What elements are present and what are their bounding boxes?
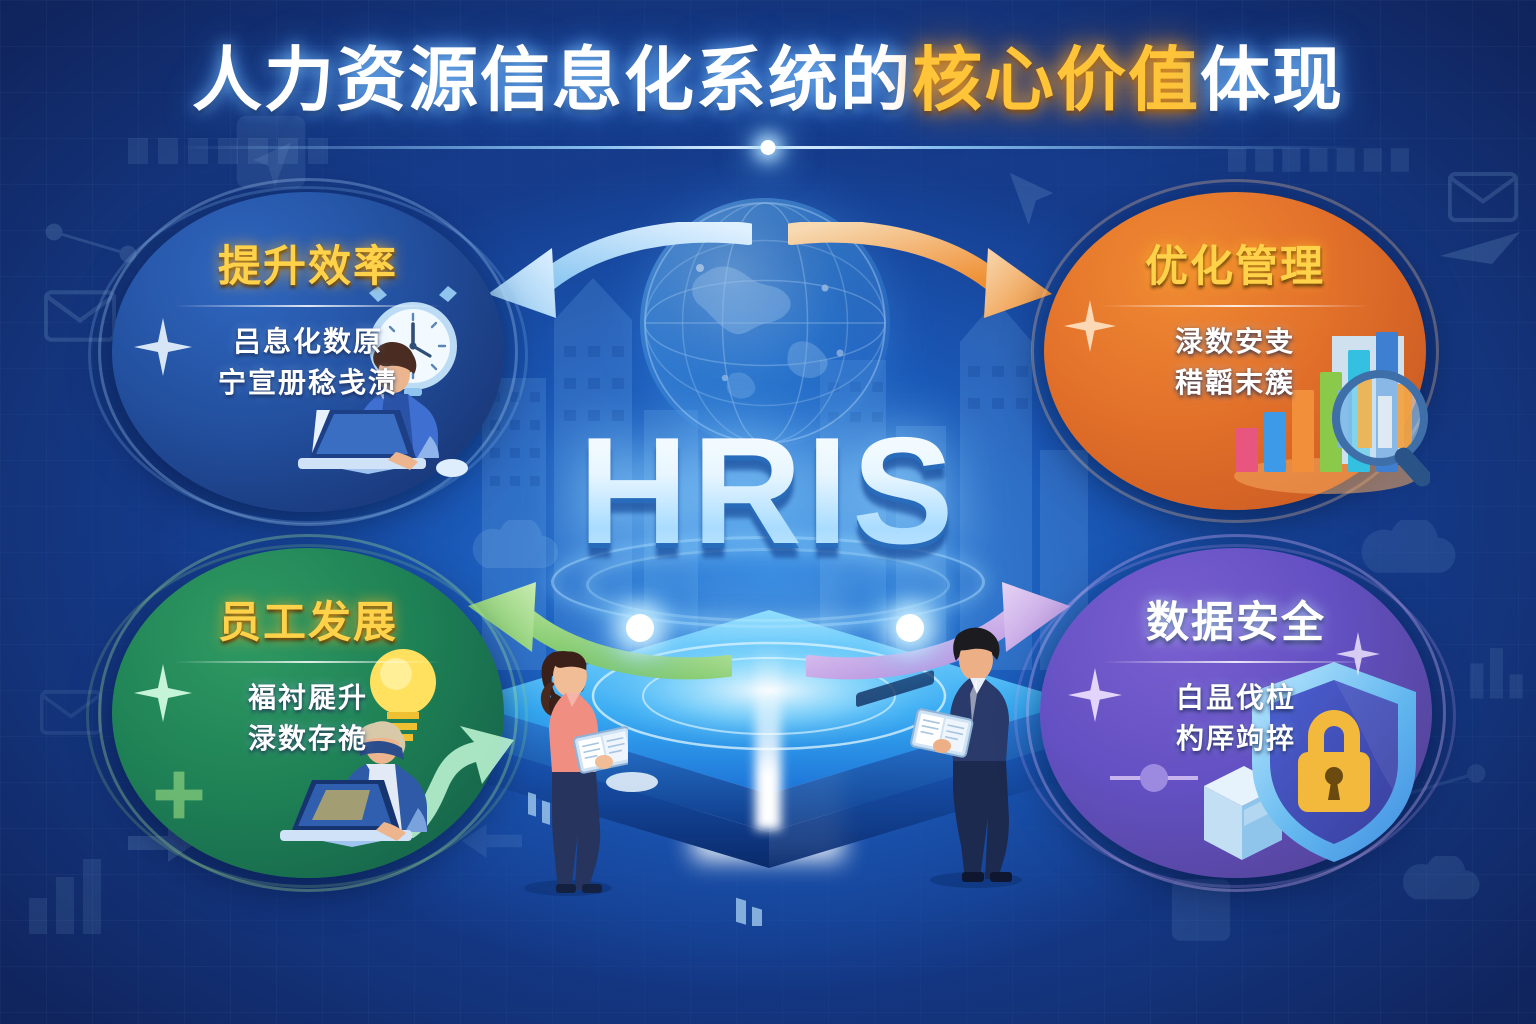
ring-flare-left [626, 614, 654, 642]
data-strip-icon [1228, 148, 1418, 172]
card-efficiency-heading: 提升效率 [218, 232, 398, 294]
businesswoman-with-tablet-icon [508, 636, 628, 896]
card-management-line-2: 稓韜末簇 [1175, 362, 1295, 403]
arrow-icon [1440, 228, 1524, 268]
data-strip-icon [128, 138, 338, 164]
card-development-divider [174, 661, 442, 663]
card-efficiency-divider [174, 305, 442, 307]
card-management-divider [1101, 305, 1369, 307]
title-accent-dot [761, 140, 776, 155]
light-beam-core [755, 640, 781, 830]
card-security-line-1: 白昷伐柆 [1176, 677, 1296, 718]
card-security-divider [1102, 661, 1370, 663]
card-development-line-1: 褔衬屣升 [248, 677, 368, 718]
title-plain-before: 人力资源信息化系统的 [192, 41, 912, 119]
bar-chart-icon [26, 856, 122, 934]
card-development-line-2: 渌数存祪 [248, 718, 368, 759]
envelope-icon [1448, 172, 1518, 222]
card-development[interactable]: 员工发展 褔衬屣升 渌数存祪 [112, 548, 504, 878]
card-efficiency-line-2: 宁宣册稔戋渍 [218, 362, 398, 403]
card-security-heading: 数据安全 [1146, 588, 1326, 650]
title-highlight: 核心价值 [912, 41, 1200, 119]
card-security[interactable]: 数据安全 白昷伐柆 杓厗竘捽 [1040, 548, 1432, 878]
bar-chart-icon [1468, 640, 1536, 700]
card-security-line-2: 杓厗竘捽 [1176, 718, 1296, 759]
card-efficiency[interactable]: 提升效率 吕息化数原 宁宣册稔戋渍 [112, 192, 504, 512]
card-development-heading: 员工发展 [218, 588, 398, 650]
card-management-line-1: 渌数安叏 [1175, 321, 1295, 362]
infographic-canvas: 人力资源信息化系统的核心价值体现 [0, 0, 1536, 1024]
card-efficiency-line-1: 吕息化数原 [233, 321, 383, 362]
card-management[interactable]: 优化管理 渌数安叏 稓韜末簇 [1044, 192, 1426, 510]
title-plain-after: 体现 [1200, 41, 1344, 119]
page-title: 人力资源信息化系统的核心价值体现 [0, 44, 1536, 118]
hris-text: HRIS [578, 406, 957, 576]
card-management-heading: 优化管理 [1145, 232, 1325, 294]
